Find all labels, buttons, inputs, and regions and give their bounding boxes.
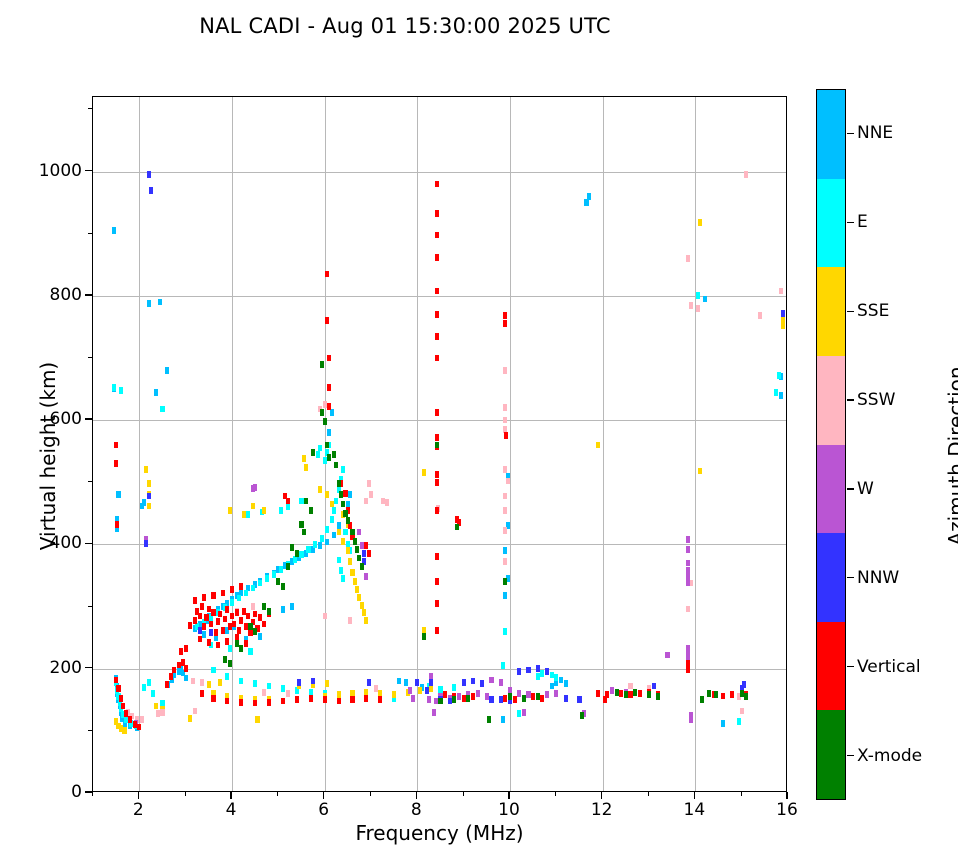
data-point-x-mode bbox=[452, 696, 456, 703]
data-point-sse bbox=[357, 594, 361, 601]
colorbar-segment-nne[interactable] bbox=[817, 90, 845, 179]
data-point-x-mode bbox=[299, 521, 303, 528]
data-point-vertical bbox=[435, 600, 439, 607]
y-tick-minor bbox=[88, 606, 92, 607]
data-point-vertical bbox=[435, 627, 439, 634]
chart-title: NAL CADI - Aug 01 15:30:00 2025 UTC bbox=[0, 14, 810, 38]
y-tick-mark bbox=[85, 170, 92, 171]
data-point-nnw bbox=[471, 678, 475, 685]
data-point-x-mode bbox=[455, 524, 459, 531]
data-point-sse bbox=[698, 468, 702, 475]
data-point-vertical bbox=[211, 609, 215, 616]
data-point-sse bbox=[360, 602, 364, 609]
data-point-w bbox=[408, 687, 412, 694]
data-point-e bbox=[211, 667, 215, 674]
data-point-vertical bbox=[209, 621, 213, 628]
x-tick-mark bbox=[694, 792, 695, 799]
data-point-nne bbox=[332, 532, 336, 539]
data-point-sse bbox=[325, 491, 329, 498]
data-point-nnw bbox=[742, 681, 746, 688]
data-point-nne bbox=[559, 677, 563, 684]
data-point-nnw bbox=[198, 627, 202, 634]
data-point-vertical bbox=[184, 665, 188, 672]
data-point-nne bbox=[290, 603, 294, 610]
data-point-w bbox=[427, 696, 431, 703]
data-point-nne bbox=[584, 199, 588, 206]
data-point-sse bbox=[144, 466, 148, 473]
data-point-vertical bbox=[172, 667, 176, 674]
colorbar-segment-w[interactable] bbox=[817, 445, 845, 534]
data-point-x-mode bbox=[235, 640, 239, 647]
data-point-vertical bbox=[323, 696, 327, 703]
data-point-nne bbox=[112, 227, 116, 234]
data-point-x-mode bbox=[740, 690, 744, 697]
data-point-vertical bbox=[628, 691, 632, 698]
data-point-x-mode bbox=[536, 693, 540, 700]
y-axis-title: Virtual height (km) bbox=[36, 316, 60, 596]
data-point-vertical bbox=[230, 586, 234, 593]
data-point-nne bbox=[703, 296, 707, 303]
data-point-vertical bbox=[435, 553, 439, 560]
data-point-e bbox=[452, 684, 456, 691]
data-point-vertical bbox=[503, 695, 507, 702]
data-point-w bbox=[489, 677, 493, 684]
data-point-x-mode bbox=[744, 693, 748, 700]
data-point-vertical bbox=[244, 623, 248, 630]
colorbar-segment-nnw[interactable] bbox=[817, 533, 845, 622]
data-point-nne bbox=[281, 606, 285, 613]
data-point-e bbox=[230, 599, 234, 606]
data-point-e bbox=[228, 645, 232, 652]
x-tick-mark bbox=[601, 792, 602, 799]
x-tick-minor bbox=[741, 792, 742, 796]
data-point-x-mode bbox=[357, 555, 361, 562]
data-point-ssw bbox=[686, 255, 690, 262]
data-point-x-mode bbox=[438, 698, 442, 705]
data-point-x-mode bbox=[508, 693, 512, 700]
data-point-vertical bbox=[596, 690, 600, 697]
data-point-nne bbox=[147, 300, 151, 307]
data-point-ssw bbox=[744, 171, 748, 178]
data-point-x-mode bbox=[435, 442, 439, 449]
data-point-vertical bbox=[114, 677, 118, 684]
x-tick-mark bbox=[786, 792, 787, 799]
data-point-vertical bbox=[367, 550, 371, 557]
data-point-vertical bbox=[286, 498, 290, 505]
data-point-nne bbox=[116, 491, 120, 498]
data-point-vertical bbox=[435, 471, 439, 478]
data-point-nnw bbox=[297, 679, 301, 686]
data-point-ssw bbox=[200, 679, 204, 686]
y-tick-minor bbox=[88, 357, 92, 358]
x-tick-minor bbox=[648, 792, 649, 796]
x-tick-minor bbox=[555, 792, 556, 796]
data-point-e bbox=[554, 674, 558, 681]
data-point-e bbox=[503, 628, 507, 635]
x-tick-minor bbox=[92, 792, 93, 796]
data-point-x-mode bbox=[522, 695, 526, 702]
data-point-e bbox=[281, 685, 285, 692]
y-tick-label: 0 bbox=[30, 782, 82, 802]
data-point-nnw bbox=[781, 310, 785, 317]
data-point-vertical bbox=[119, 695, 123, 702]
data-point-x-mode bbox=[286, 563, 290, 570]
data-point-x-mode bbox=[281, 583, 285, 590]
data-point-x-mode bbox=[615, 689, 619, 696]
data-point-ssw bbox=[348, 617, 352, 624]
data-point-ssw bbox=[503, 466, 507, 473]
data-point-x-mode bbox=[228, 660, 232, 667]
data-point-e bbox=[267, 683, 271, 690]
colorbar-tick-mark bbox=[847, 133, 854, 134]
data-point-x-mode bbox=[325, 442, 329, 449]
data-point-vertical bbox=[239, 699, 243, 706]
data-point-e bbox=[438, 686, 442, 693]
data-point-vertical bbox=[237, 627, 241, 634]
data-point-sse bbox=[207, 681, 211, 688]
data-point-e bbox=[774, 389, 778, 396]
data-point-nne bbox=[550, 683, 554, 690]
x-tick-mark bbox=[138, 792, 139, 799]
y-tick-label: 400 bbox=[30, 533, 82, 553]
x-tick-label: 6 bbox=[294, 800, 354, 820]
data-point-w bbox=[686, 580, 690, 587]
data-point-e bbox=[325, 526, 329, 533]
x-tick-label: 2 bbox=[108, 800, 168, 820]
data-point-vertical bbox=[202, 594, 206, 601]
data-point-x-mode bbox=[304, 498, 308, 505]
y-tick-label: 600 bbox=[30, 409, 82, 429]
data-point-vertical bbox=[435, 434, 439, 441]
data-point-w bbox=[517, 690, 521, 697]
data-point-w bbox=[554, 690, 558, 697]
data-point-sse bbox=[147, 503, 151, 510]
data-point-ssw bbox=[323, 401, 327, 408]
data-point-x-mode bbox=[323, 418, 327, 425]
data-point-sse bbox=[348, 558, 352, 565]
data-point-e bbox=[323, 457, 327, 464]
colorbar-title: Azimuth Direction bbox=[944, 306, 958, 606]
data-point-sse bbox=[218, 679, 222, 686]
data-point-nne bbox=[154, 389, 158, 396]
data-point-e bbox=[501, 662, 505, 669]
data-point-vertical bbox=[128, 716, 132, 723]
data-point-nnw bbox=[652, 683, 656, 690]
data-point-e bbox=[337, 557, 341, 564]
data-point-w bbox=[499, 679, 503, 686]
data-point-vertical bbox=[364, 695, 368, 702]
data-point-sse bbox=[154, 703, 158, 710]
data-point-vertical bbox=[228, 623, 232, 630]
data-point-sse bbox=[355, 586, 359, 593]
data-point-sse bbox=[429, 685, 433, 692]
data-point-x-mode bbox=[320, 409, 324, 416]
data-point-vertical bbox=[435, 355, 439, 362]
data-point-nne bbox=[404, 679, 408, 686]
data-point-sse bbox=[392, 691, 396, 698]
data-point-e bbox=[147, 679, 151, 686]
data-point-vertical bbox=[378, 696, 382, 703]
data-point-ssw bbox=[503, 493, 507, 500]
data-point-nne bbox=[587, 193, 591, 200]
data-point-x-mode bbox=[239, 645, 243, 652]
colorbar-tick-mark bbox=[847, 755, 854, 756]
data-point-w bbox=[689, 716, 693, 723]
data-point-x-mode bbox=[624, 691, 628, 698]
data-point-nne bbox=[503, 547, 507, 554]
data-point-e bbox=[540, 670, 544, 677]
data-point-sse bbox=[255, 716, 259, 723]
data-point-ssw bbox=[191, 678, 195, 685]
x-tick-label: 8 bbox=[386, 800, 446, 820]
data-point-sse bbox=[228, 507, 232, 514]
data-point-x-mode bbox=[327, 454, 331, 461]
colorbar-label-x-mode: X-mode bbox=[857, 746, 922, 766]
data-point-sse bbox=[251, 503, 255, 510]
data-point-vertical bbox=[198, 636, 202, 643]
data-point-nnw bbox=[462, 679, 466, 686]
data-point-w bbox=[432, 709, 436, 716]
colorbar[interactable] bbox=[816, 89, 846, 800]
data-point-e bbox=[248, 648, 252, 655]
colorbar-segment-vertical[interactable] bbox=[817, 622, 845, 711]
data-point-sse bbox=[122, 727, 126, 734]
data-point-vertical bbox=[327, 355, 331, 362]
data-point-w bbox=[253, 484, 257, 491]
data-point-w bbox=[485, 693, 489, 700]
data-point-e bbox=[777, 372, 781, 379]
data-point-nnw bbox=[209, 629, 213, 636]
data-point-e bbox=[265, 575, 269, 582]
data-point-sse bbox=[346, 547, 350, 554]
x-tick-minor bbox=[370, 792, 371, 796]
data-point-vertical bbox=[435, 181, 439, 188]
data-point-e bbox=[339, 567, 343, 574]
data-point-e bbox=[330, 516, 334, 523]
data-point-nne bbox=[184, 675, 188, 682]
data-point-ssw bbox=[503, 367, 507, 374]
plot-area[interactable] bbox=[92, 96, 787, 792]
data-point-vertical bbox=[239, 583, 243, 590]
data-point-vertical bbox=[193, 597, 197, 604]
colorbar-segment-x-mode[interactable] bbox=[817, 710, 845, 799]
data-point-vertical bbox=[169, 673, 173, 680]
data-point-nne bbox=[165, 367, 169, 374]
data-point-nnw bbox=[536, 665, 540, 672]
data-point-w bbox=[686, 546, 690, 553]
data-point-vertical bbox=[435, 479, 439, 486]
data-point-nne bbox=[330, 409, 334, 416]
data-point-vertical bbox=[242, 608, 246, 615]
data-point-sse bbox=[422, 469, 426, 476]
data-point-e bbox=[237, 595, 241, 602]
data-point-nnw bbox=[517, 668, 521, 675]
data-point-x-mode bbox=[355, 546, 359, 553]
data-point-nnw bbox=[415, 679, 419, 686]
colorbar-tick-mark bbox=[847, 666, 854, 667]
data-point-nnw bbox=[311, 678, 315, 685]
colorbar-segment-sse[interactable] bbox=[817, 267, 845, 356]
data-point-ssw bbox=[506, 478, 510, 485]
data-point-vertical bbox=[327, 384, 331, 391]
y-tick-minor bbox=[88, 108, 92, 109]
data-point-ssw bbox=[779, 288, 783, 295]
data-point-sse bbox=[418, 687, 422, 694]
data-point-sse bbox=[781, 322, 785, 329]
data-point-vertical bbox=[504, 432, 508, 439]
colorbar-tick-mark bbox=[847, 399, 854, 400]
data-point-x-mode bbox=[276, 578, 280, 585]
data-point-x-mode bbox=[262, 603, 266, 610]
data-point-vertical bbox=[223, 616, 227, 623]
data-point-ssw bbox=[140, 716, 144, 723]
data-point-w bbox=[357, 529, 361, 536]
data-point-ssw bbox=[503, 404, 507, 411]
data-point-sse bbox=[698, 219, 702, 226]
data-point-e bbox=[246, 511, 250, 518]
colorbar-tick-mark bbox=[847, 488, 854, 489]
colorbar-label-sse: SSE bbox=[857, 301, 889, 321]
x-axis-title: Frequency (MHz) bbox=[92, 821, 787, 845]
data-point-nnw bbox=[149, 187, 153, 194]
data-point-x-mode bbox=[341, 501, 345, 508]
data-point-vertical bbox=[133, 721, 137, 728]
data-point-vertical bbox=[248, 629, 252, 636]
data-layer bbox=[93, 97, 786, 791]
data-point-w bbox=[665, 652, 669, 659]
data-point-x-mode bbox=[647, 691, 651, 698]
data-point-nne bbox=[325, 539, 329, 546]
data-point-ssw bbox=[193, 708, 197, 715]
data-point-e bbox=[119, 387, 123, 394]
data-point-x-mode bbox=[311, 449, 315, 456]
data-point-vertical bbox=[239, 617, 243, 624]
data-point-vertical bbox=[218, 611, 222, 618]
data-point-nnw bbox=[526, 667, 530, 674]
y-tick-mark bbox=[85, 667, 92, 668]
data-point-nnw bbox=[545, 668, 549, 675]
data-point-e bbox=[737, 718, 741, 725]
data-point-e bbox=[253, 680, 257, 687]
data-point-nne bbox=[503, 592, 507, 599]
data-point-ssw bbox=[374, 685, 378, 692]
data-point-e bbox=[550, 672, 554, 679]
data-point-x-mode bbox=[267, 608, 271, 615]
data-point-vertical bbox=[327, 403, 331, 410]
data-point-vertical bbox=[211, 592, 215, 599]
data-point-vertical bbox=[184, 645, 188, 652]
data-point-e bbox=[112, 384, 116, 391]
data-point-sse bbox=[262, 507, 266, 514]
data-point-x-mode bbox=[253, 628, 257, 635]
x-tick-minor bbox=[463, 792, 464, 796]
data-point-sse bbox=[364, 617, 368, 624]
data-point-vertical bbox=[253, 700, 257, 707]
data-point-nnw bbox=[147, 171, 151, 178]
data-point-e bbox=[239, 678, 243, 685]
data-point-vertical bbox=[337, 698, 341, 705]
data-point-e bbox=[341, 575, 345, 582]
data-point-e bbox=[286, 504, 290, 511]
data-point-ssw bbox=[503, 527, 507, 534]
y-tick-minor bbox=[88, 233, 92, 234]
data-point-sse bbox=[353, 578, 357, 585]
data-point-x-mode bbox=[580, 712, 584, 719]
data-point-e bbox=[151, 690, 155, 697]
data-point-vertical bbox=[177, 662, 181, 669]
x-tick-minor bbox=[185, 792, 186, 796]
data-point-e bbox=[517, 710, 521, 717]
data-point-e bbox=[316, 451, 320, 458]
colorbar-tick-mark bbox=[847, 222, 854, 223]
data-point-x-mode bbox=[290, 544, 294, 551]
data-point-vertical bbox=[221, 627, 225, 634]
data-point-nne bbox=[318, 542, 322, 549]
data-point-vertical bbox=[121, 703, 125, 710]
data-point-x-mode bbox=[487, 716, 491, 723]
data-point-vertical bbox=[721, 693, 725, 700]
y-tick-mark bbox=[85, 294, 92, 295]
data-point-x-mode bbox=[337, 480, 341, 487]
data-point-vertical bbox=[244, 640, 248, 647]
data-point-vertical bbox=[204, 614, 208, 621]
data-point-vertical bbox=[211, 695, 215, 702]
data-point-w bbox=[610, 687, 614, 694]
data-point-ssw bbox=[696, 305, 700, 312]
data-point-ssw bbox=[367, 480, 371, 487]
data-point-nnw bbox=[429, 679, 433, 686]
data-point-nne bbox=[327, 429, 331, 436]
data-point-sse bbox=[341, 538, 345, 545]
data-point-vertical bbox=[435, 288, 439, 295]
colorbar-segment-ssw[interactable] bbox=[817, 356, 845, 445]
data-point-vertical bbox=[295, 696, 299, 703]
data-point-vertical bbox=[364, 542, 368, 549]
data-point-e bbox=[225, 673, 229, 680]
data-point-x-mode bbox=[223, 656, 227, 663]
data-point-vertical bbox=[435, 409, 439, 416]
data-point-vertical bbox=[462, 695, 466, 702]
data-point-ssw bbox=[385, 499, 389, 506]
data-point-e bbox=[272, 571, 276, 578]
colorbar-label-vertical: Vertical bbox=[857, 657, 921, 677]
data-point-nne bbox=[348, 491, 352, 498]
data-point-w bbox=[545, 691, 549, 698]
data-point-x-mode bbox=[353, 538, 357, 545]
data-point-w bbox=[526, 691, 530, 698]
data-point-sse bbox=[318, 486, 322, 493]
data-point-nnw bbox=[499, 696, 503, 703]
data-point-sse bbox=[304, 464, 308, 471]
data-point-w bbox=[411, 695, 415, 702]
x-tick-mark bbox=[416, 792, 417, 799]
data-point-vertical bbox=[262, 621, 266, 628]
data-point-vertical bbox=[435, 507, 439, 514]
data-point-vertical bbox=[216, 618, 220, 625]
figure-ionogram: NAL CADI - Aug 01 15:30:00 2025 UTC Freq… bbox=[0, 0, 958, 857]
data-point-nnw bbox=[480, 680, 484, 687]
y-tick-label: 800 bbox=[30, 285, 82, 305]
data-point-x-mode bbox=[503, 578, 507, 585]
data-point-x-mode bbox=[346, 517, 350, 524]
data-point-ssw bbox=[286, 690, 290, 697]
data-point-ssw bbox=[740, 708, 744, 715]
colorbar-segment-e[interactable] bbox=[817, 179, 845, 268]
data-point-e bbox=[279, 507, 283, 514]
data-point-ssw bbox=[156, 710, 160, 717]
data-point-vertical bbox=[638, 690, 642, 697]
data-point-vertical bbox=[503, 312, 507, 319]
